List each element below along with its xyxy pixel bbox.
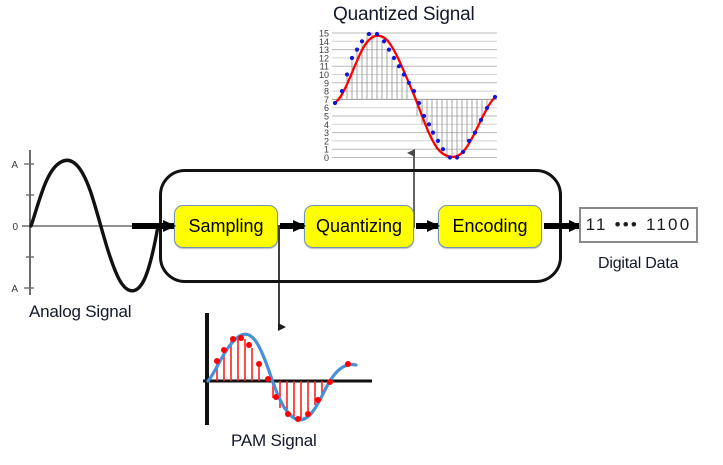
digital-data-box: 11 ••• 1100 bbox=[579, 207, 698, 243]
digital-data-caption: Digital Data bbox=[598, 255, 678, 273]
diagram-canvas: Quantized Signal bbox=[0, 0, 723, 465]
